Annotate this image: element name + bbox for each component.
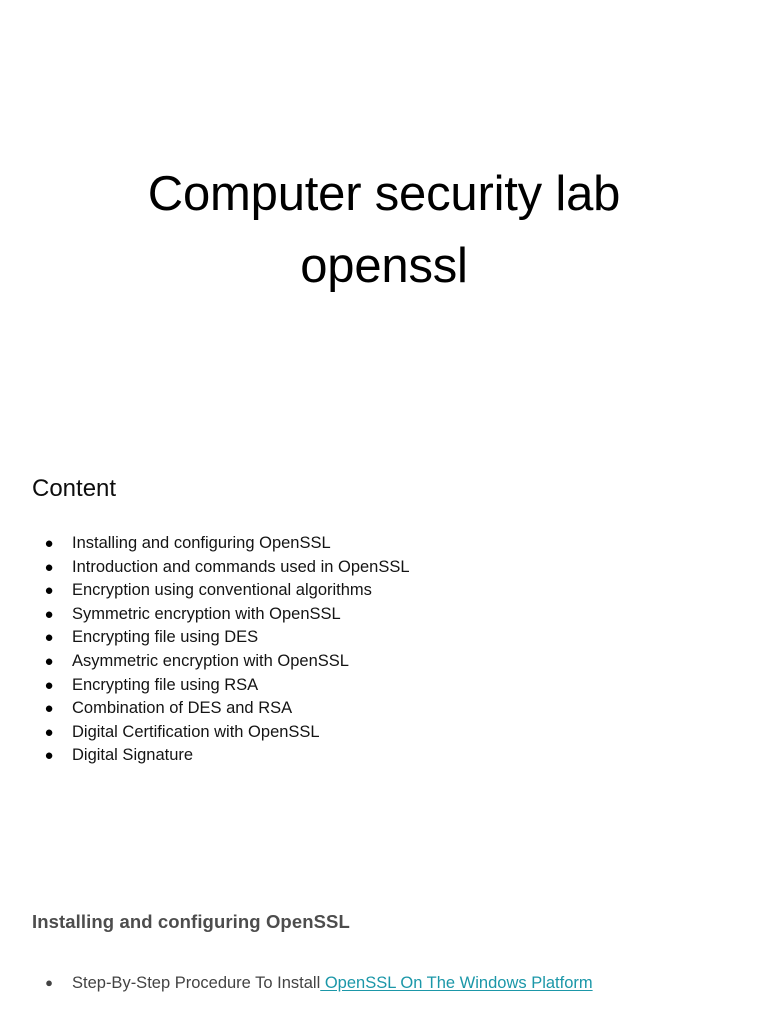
install-section-heading: Installing and configuring OpenSSL [32, 910, 736, 934]
content-heading: Content [32, 474, 732, 504]
content-section: Content ● Installing and configuring Ope… [32, 474, 732, 768]
bullet-icon: ● [42, 603, 56, 627]
list-item-label: Encryption using conventional algorithms [72, 581, 372, 599]
list-item: ● Installing and configuring OpenSSL [32, 532, 732, 556]
bullet-icon: ● [42, 674, 56, 698]
bullet-icon: ● [42, 626, 56, 650]
list-item: ● Digital Signature [32, 744, 732, 768]
bullet-icon: ● [42, 744, 56, 768]
list-item-label: Combination of DES and RSA [72, 699, 292, 717]
list-item-label: Introduction and commands used in OpenSS… [72, 558, 410, 576]
bullet-icon: ● [42, 697, 56, 721]
install-bullet-list: ● Step-By-Step Procedure To Install Open… [32, 968, 736, 998]
install-step-label: Step-By-Step Procedure To Install [72, 974, 320, 992]
bullet-icon: ● [42, 721, 56, 745]
list-item-label: Asymmetric encryption with OpenSSL [72, 652, 349, 670]
list-item: ● Combination of DES and RSA [32, 697, 732, 721]
bullet-icon: ● [42, 532, 56, 556]
page-title-line-1: Computer security lab [0, 158, 768, 230]
page-title-line-2: openssl [0, 230, 768, 302]
list-item-label: Installing and configuring OpenSSL [72, 534, 331, 552]
list-item: ● Encrypting file using DES [32, 626, 732, 650]
openssl-windows-platform-link[interactable]: OpenSSL On The Windows Platform [320, 974, 592, 992]
list-item-label: Symmetric encryption with OpenSSL [72, 605, 341, 623]
list-item: ● Encrypting file using RSA [32, 674, 732, 698]
bullet-icon: ● [42, 968, 56, 998]
list-item: ● Encryption using conventional algorith… [32, 579, 732, 603]
list-item-label: Digital Signature [72, 746, 193, 764]
bullet-icon: ● [42, 579, 56, 603]
list-item-label: Encrypting file using RSA [72, 676, 258, 694]
slide-page: Computer security lab openssl Content ● … [0, 0, 768, 1024]
list-item-label: Digital Certification with OpenSSL [72, 723, 320, 741]
bullet-icon: ● [42, 650, 56, 674]
list-item: ● Asymmetric encryption with OpenSSL [32, 650, 732, 674]
list-item: ● Symmetric encryption with OpenSSL [32, 603, 732, 627]
bullet-icon: ● [42, 556, 56, 580]
list-item: ● Introduction and commands used in Open… [32, 556, 732, 580]
install-section: Installing and configuring OpenSSL ● Ste… [32, 910, 736, 998]
content-bullet-list: ● Installing and configuring OpenSSL ● I… [32, 532, 732, 768]
list-item: ● Digital Certification with OpenSSL [32, 721, 732, 745]
title-block: Computer security lab openssl [0, 158, 768, 302]
page-title: Computer security lab openssl [0, 158, 768, 302]
list-item: ● Step-By-Step Procedure To Install Open… [32, 968, 736, 998]
list-item-label: Encrypting file using DES [72, 628, 258, 646]
